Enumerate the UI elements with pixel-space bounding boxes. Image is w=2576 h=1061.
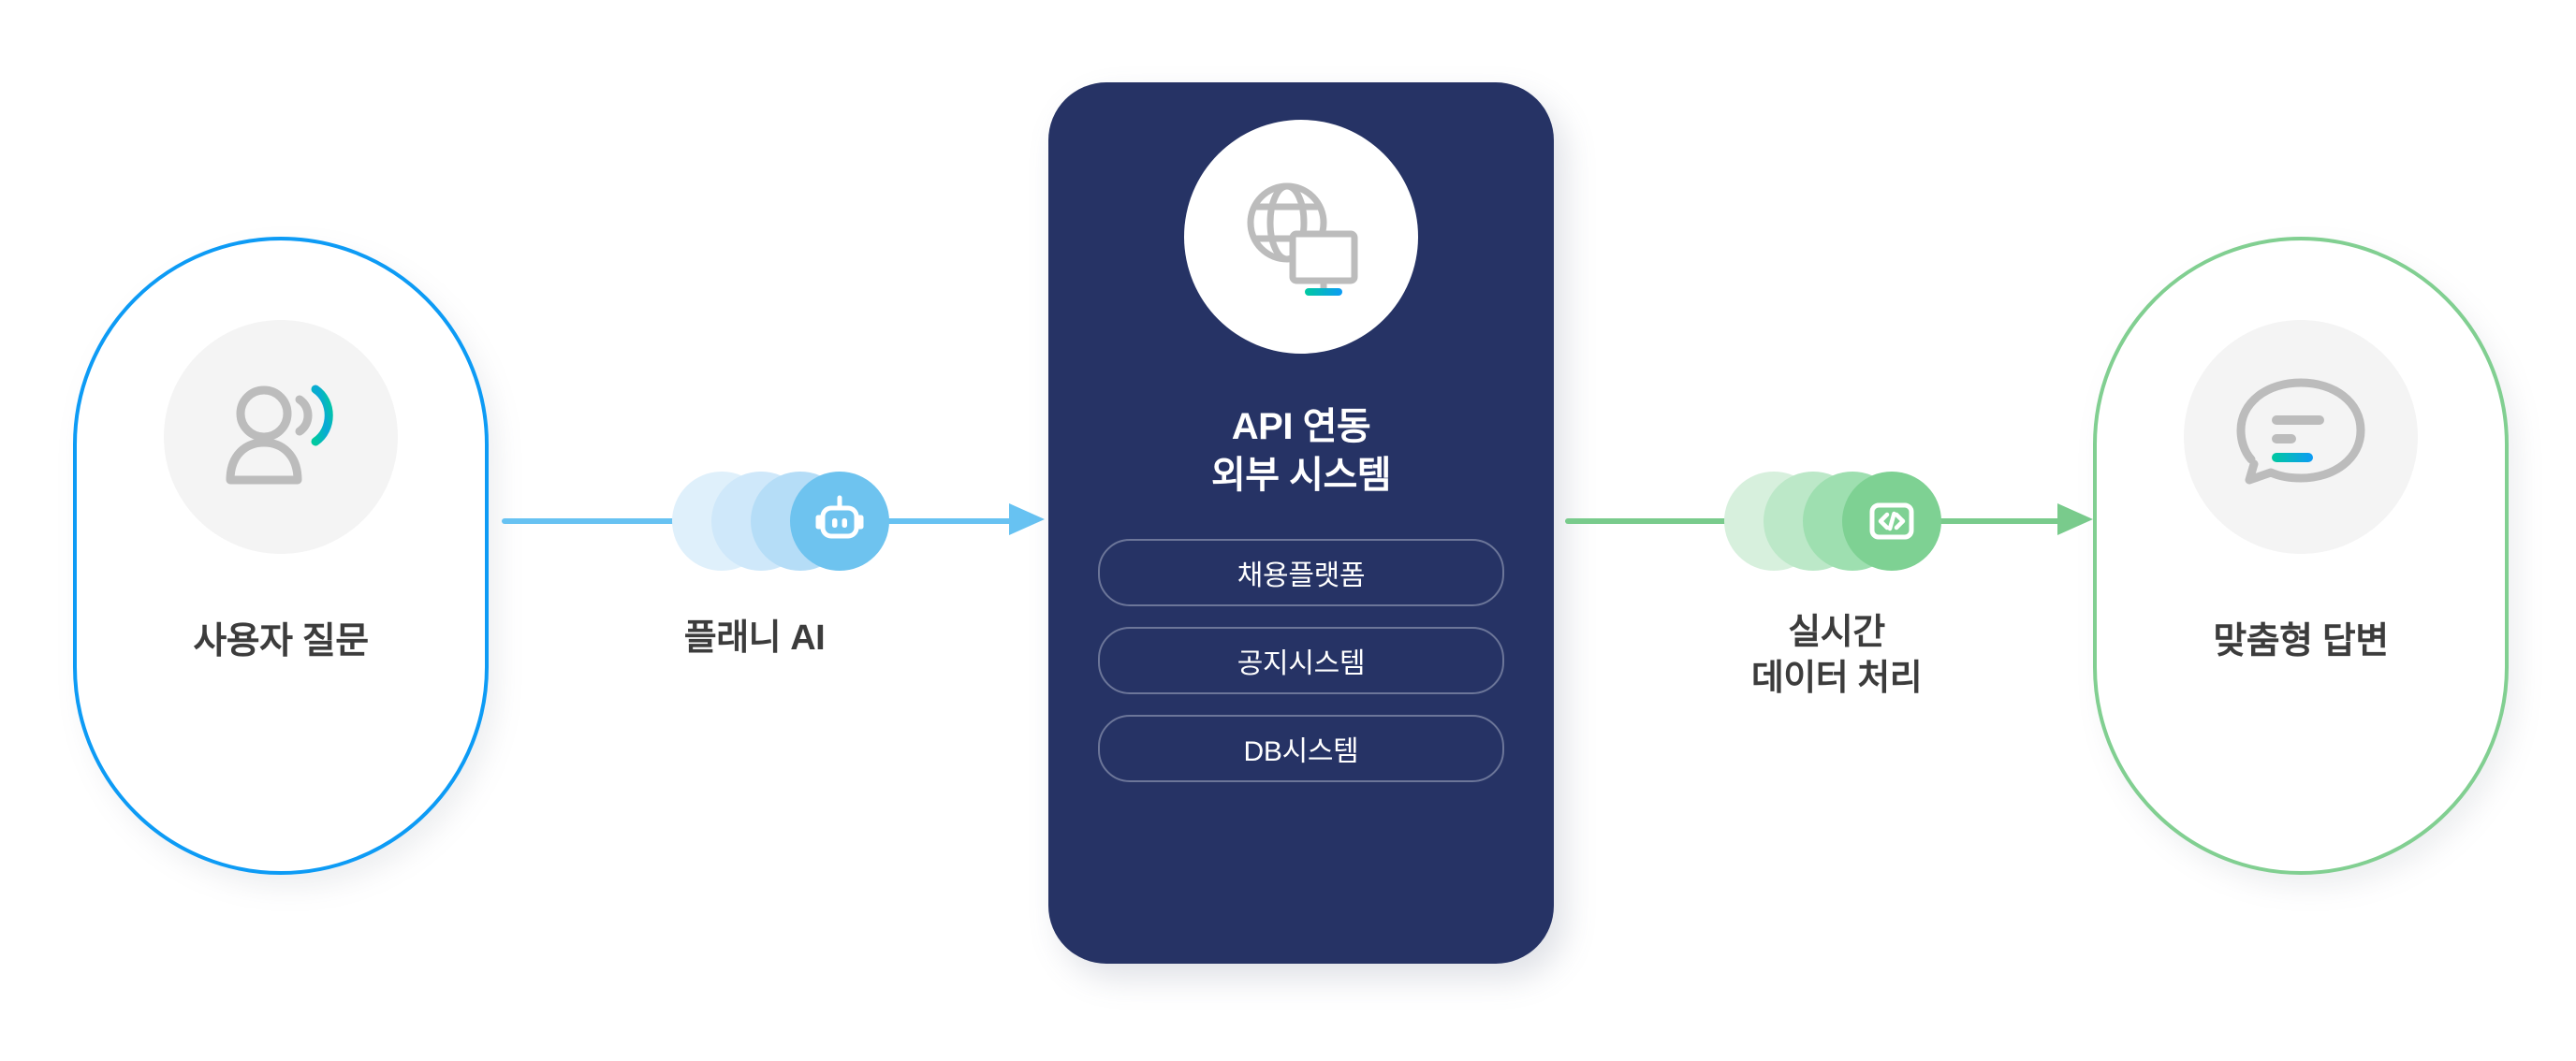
chat-bubble-icon: [2231, 367, 2371, 507]
globe-monitor-icon: [1231, 167, 1371, 307]
connector-ai: 플래니 AI: [502, 449, 1045, 730]
connector-data: 실시간 데이터 처리: [1565, 449, 2108, 767]
robot-icon: [811, 492, 869, 550]
user-speaking-icon-container: [164, 320, 398, 554]
connector-ai-bubble-main[interactable]: [790, 472, 889, 571]
node-title-api: API 연동 외부 시스템: [1211, 402, 1391, 500]
api-system-pill[interactable]: DB시스템: [1098, 715, 1504, 782]
globe-monitor-icon-container: [1184, 120, 1418, 354]
diagram-canvas: 사용자 질문 플래니 AI: [0, 0, 2576, 1061]
node-label-user: 사용자 질문: [193, 612, 368, 664]
connector-data-label: 실시간 데이터 처리: [1631, 610, 2042, 701]
node-title-api-line1: API 연동: [1211, 402, 1391, 451]
chat-bubble-icon-container: [2184, 320, 2418, 554]
api-system-pill-list: 채용플랫폼 공지시스템 DB시스템: [1048, 539, 1554, 782]
api-system-pill[interactable]: 공지시스템: [1098, 627, 1504, 694]
connector-data-bubble-main[interactable]: [1842, 472, 1941, 571]
code-brackets-icon: [1865, 494, 1919, 548]
node-title-api-line2: 외부 시스템: [1211, 451, 1391, 500]
node-label-answer: 맞춤형 답변: [2213, 612, 2388, 664]
node-card-user[interactable]: 사용자 질문: [73, 237, 489, 875]
node-card-answer[interactable]: 맞춤형 답변: [2093, 237, 2509, 875]
user-speaking-icon: [206, 362, 356, 512]
connector-data-arrowhead: [2057, 503, 2093, 535]
api-system-pill[interactable]: 채용플랫폼: [1098, 539, 1504, 606]
connector-ai-arrowhead: [1009, 503, 1045, 535]
connector-ai-label: 플래니 AI: [558, 616, 951, 661]
node-card-api[interactable]: API 연동 외부 시스템 채용플랫폼 공지시스템 DB시스템: [1048, 82, 1554, 964]
